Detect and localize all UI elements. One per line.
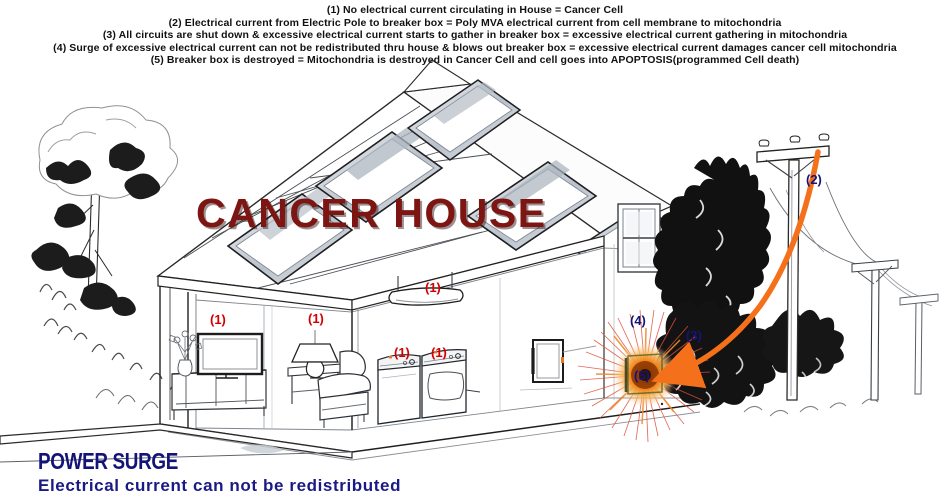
- legend-line-4: (4) Surge of excessive electrical curren…: [0, 42, 950, 55]
- legend-line-2: (2) Electrical current from Electric Pol…: [0, 17, 950, 30]
- distant-pole-2: [900, 294, 938, 394]
- callout-1-ceiling-light: (1): [425, 280, 441, 295]
- callout-2-electric-pole: (2): [806, 172, 822, 187]
- television: [198, 334, 262, 378]
- callout-1-table-lamp: (1): [308, 311, 324, 326]
- legend-line-3: (3) All circuits are shut down & excessi…: [0, 29, 950, 42]
- diagram-canvas: (1) No electrical current circulating in…: [0, 0, 950, 499]
- legend-block: (1) No electrical current circulating in…: [0, 4, 950, 67]
- distant-pole-1: [852, 260, 898, 400]
- evergreen-hedge: [653, 156, 878, 416]
- callout-1-television: (1): [210, 312, 226, 327]
- house-illustration: [0, 0, 950, 499]
- callout-1-washer: (1): [394, 345, 410, 360]
- caption-title: POWER SURGE: [38, 450, 336, 473]
- callout-4-surge-burst: (4): [630, 313, 646, 328]
- legend-line-1: (1) No electrical current circulating in…: [0, 4, 950, 17]
- callout-5-destroyed-breaker: (5): [634, 368, 650, 383]
- legend-line-5: (5) Breaker box is destroyed = Mitochond…: [0, 54, 950, 67]
- washer: [378, 355, 420, 424]
- caption-block: POWER SURGE Electrical current can not b…: [38, 450, 401, 497]
- caption-subtitle: Electrical current can not be redistribu…: [38, 475, 401, 497]
- callout-3-current-flow: (3): [686, 328, 702, 343]
- callout-1-dryer: (1): [431, 345, 447, 360]
